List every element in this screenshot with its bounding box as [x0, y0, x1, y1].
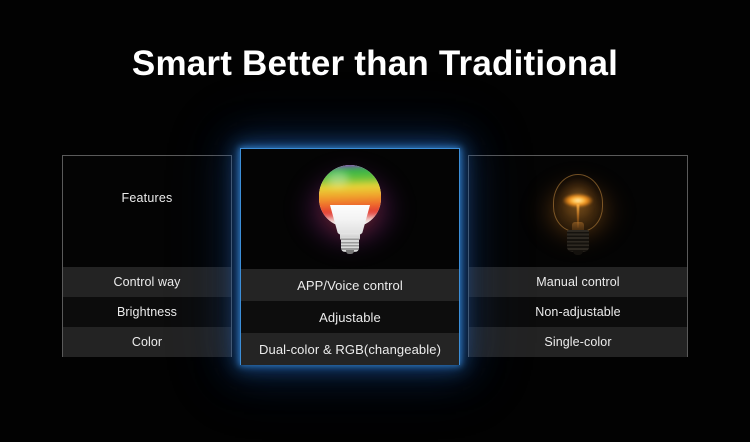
page-title: Smart Better than Traditional — [0, 42, 750, 86]
smart-bulb-contact-tip — [346, 250, 354, 254]
feature-column-card: Features Control way Brightness Color — [62, 155, 232, 357]
smart-bulb-value-brightness: Adjustable — [241, 301, 459, 333]
traditional-bulb-card[interactable]: Manual control Non-adjustable Single-col… — [468, 155, 688, 357]
traditional-bulb-graphic — [550, 174, 606, 258]
feature-label-color: Color — [63, 327, 231, 357]
traditional-bulb-value-control-way: Manual control — [469, 267, 687, 297]
traditional-bulb-image-area — [469, 156, 687, 267]
feature-label-brightness: Brightness — [63, 297, 231, 327]
traditional-bulb-value-brightness: Non-adjustable — [469, 297, 687, 327]
feature-label-control-way: Control way — [63, 267, 231, 297]
smart-bulb-value-color: Dual-color & RGB(changeable) — [241, 333, 459, 365]
traditional-filament-bulb-image — [469, 156, 687, 267]
smart-bulb-image-area — [241, 149, 459, 269]
feature-column-header-label: Features — [122, 191, 173, 205]
traditional-bulb-screw-base — [567, 230, 589, 252]
smart-bulb-graphic — [319, 165, 381, 251]
smart-bulb-card[interactable]: APP/Voice control Adjustable Dual-color … — [240, 148, 460, 365]
traditional-bulb-value-color: Single-color — [469, 327, 687, 357]
comparison-banner: Smart Better than Traditional Features C… — [0, 0, 750, 442]
feature-column-header: Features — [63, 156, 231, 267]
smart-rgb-bulb-image — [241, 149, 459, 269]
traditional-bulb-contact-tip — [573, 250, 583, 255]
comparison-table: Features Control way Brightness Color — [62, 145, 688, 365]
smart-bulb-value-control-way: APP/Voice control — [241, 269, 459, 301]
